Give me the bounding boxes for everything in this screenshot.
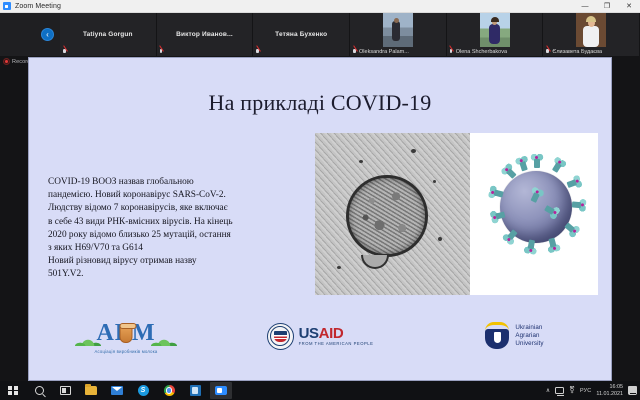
mic-muted-icon [62, 48, 67, 55]
skype-icon: S [138, 385, 149, 396]
participant-tile[interactable]: Виктор Иванов... [157, 13, 254, 56]
usaid-logo: USAID FROM THE AMERICAN PEOPLE [223, 323, 417, 350]
clock-date: 11.01.2021 [596, 391, 623, 398]
tray-expand-icon[interactable]: ∧ [546, 387, 550, 394]
presentation-slide: На прикладі COVID-19 COVID-19 ВООЗ назва… [28, 57, 612, 381]
system-tray: ∧ ⚧ РУС 16:05 11.01.2021 [546, 384, 640, 397]
windows-taskbar: S ∧ ⚧ РУС 16:05 11.01.2021 [0, 381, 640, 400]
mic-muted-icon [159, 48, 164, 55]
sars-cov-2-3d-model-image [470, 133, 598, 295]
participant-badge: Olena Shcherbakova [449, 48, 507, 55]
window-title-bar: Zoom Meeting — ❐ ✕ [0, 0, 640, 13]
filmstrip-prev-button[interactable]: ‹ [41, 28, 54, 41]
clock[interactable]: 16:05 11.01.2021 [596, 384, 623, 397]
shared-screen-stage: Recording... На прикладі COVID-19 COVID-… [0, 56, 640, 381]
avm-logo: АВМ Асоціація виробників молока [29, 318, 223, 354]
search-icon [35, 386, 44, 395]
record-dot-icon [3, 58, 10, 65]
zoom-taskbar-button[interactable] [208, 381, 234, 400]
uau-mark-icon [484, 322, 510, 350]
language-indicator[interactable]: РУС [580, 388, 591, 394]
virion-tail [361, 255, 389, 269]
store-icon [190, 385, 201, 396]
slide-body-text: COVID-19 ВООЗ назвав глобальною пандеміє… [48, 176, 296, 282]
filmstrip-nav: ‹ [0, 13, 60, 56]
participant-tile[interactable]: Oleksandra Palam... [350, 13, 447, 56]
participant-badge [159, 48, 164, 55]
slide-logos: АВМ Асоціація виробників молока US [29, 314, 611, 358]
slide-body-line: Людству відомо 7 коронавірусів, яке вклю… [48, 202, 296, 215]
usaid-tagline: FROM THE AMERICAN PEOPLE [299, 342, 374, 346]
participant-badge [62, 48, 67, 55]
participant-tile[interactable]: Tatiyna Gorgun [60, 13, 157, 56]
zoom-icon [215, 386, 227, 395]
participant-name: Виктор Иванов... [173, 31, 236, 38]
mic-muted-icon [449, 48, 454, 55]
minimize-button[interactable]: — [574, 0, 596, 13]
uau-line-2: Agrarian [515, 332, 543, 340]
windows-start-icon [8, 386, 18, 396]
milk-jug-icon [120, 324, 133, 343]
participant-badge [255, 48, 260, 55]
slide-images [315, 133, 598, 295]
store-button[interactable] [182, 381, 208, 400]
window-controls: — ❐ ✕ [574, 0, 640, 13]
clock-time: 16:05 [596, 384, 623, 391]
participant-name: Oleksandra Palam... [359, 49, 409, 55]
mic-muted-icon [255, 48, 260, 55]
window-title: Zoom Meeting [15, 3, 61, 10]
network-icon[interactable] [555, 387, 564, 394]
mic-muted-icon [352, 48, 357, 55]
maximize-button[interactable]: ❐ [596, 0, 618, 13]
uau-line-3: University [515, 340, 543, 348]
notifications-icon[interactable] [628, 386, 637, 395]
folder-icon [85, 386, 97, 395]
avm-subtitle: Асоціація виробників молока [94, 349, 157, 354]
task-view-button[interactable] [52, 381, 78, 400]
close-button[interactable]: ✕ [618, 0, 640, 13]
volume-icon[interactable]: ⚧ [569, 387, 575, 394]
participant-name: Тетяна Бухенко [272, 31, 330, 38]
participant-name: Єлизавета Будаєва [552, 49, 602, 55]
file-explorer-button[interactable] [78, 381, 104, 400]
participant-badge: Oleksandra Palam... [352, 48, 409, 55]
participant-tile[interactable]: Olena Shcherbakova [447, 13, 544, 56]
slide-body-line: пандемією. Новий коронавірус SARS-CoV-2. [48, 189, 296, 202]
participant-name: Tatiyna Gorgun [80, 31, 136, 38]
chrome-icon [164, 385, 175, 396]
mail-button[interactable] [104, 381, 130, 400]
skype-button[interactable]: S [130, 381, 156, 400]
participant-tile[interactable]: Тетяна Бухенко [253, 13, 350, 56]
uau-line-1: Ukrainian [515, 324, 543, 332]
slide-body-line: в себе 43 види РНК-вмісних вірусів. На к… [48, 216, 296, 229]
electron-microscopy-virion-image [315, 133, 470, 295]
slide-body-line: з яких H69/V70 та G614 [48, 242, 296, 255]
start-button[interactable] [0, 381, 26, 400]
usaid-word-us: US [299, 325, 319, 342]
zoom-meeting-window: Zoom Meeting — ❐ ✕ ‹ Tatiyna Gorgun Викт… [0, 0, 640, 400]
participant-filmstrip: ‹ Tatiyna Gorgun Виктор Иванов... Тетяна… [0, 13, 640, 56]
zoom-app-icon [3, 2, 11, 10]
mic-muted-icon [545, 48, 550, 55]
participant-tile[interactable]: Єлизавета Будаєва [543, 13, 640, 56]
chrome-button[interactable] [156, 381, 182, 400]
search-button[interactable] [26, 381, 52, 400]
slide-body-line: Новий різновид вірусу отримав назву [48, 255, 296, 268]
slide-body-line: COVID-19 ВООЗ назвав глобальною [48, 176, 296, 189]
participant-badge: Єлизавета Будаєва [545, 48, 602, 55]
uau-logo: Ukrainian Agrarian University [417, 322, 611, 350]
task-view-icon [60, 386, 71, 395]
participant-name: Olena Shcherbakova [456, 49, 507, 55]
slide-body-line: 2020 року відомо близько 25 мутацій, ост… [48, 229, 296, 242]
mail-icon [111, 386, 123, 395]
usaid-word-aid: AID [319, 325, 344, 342]
slide-body-line: 501Y.V2. [48, 268, 296, 281]
usaid-seal-icon [267, 323, 294, 350]
slide-title: На прикладі COVID-19 [29, 90, 611, 116]
virion-particle [346, 175, 428, 257]
